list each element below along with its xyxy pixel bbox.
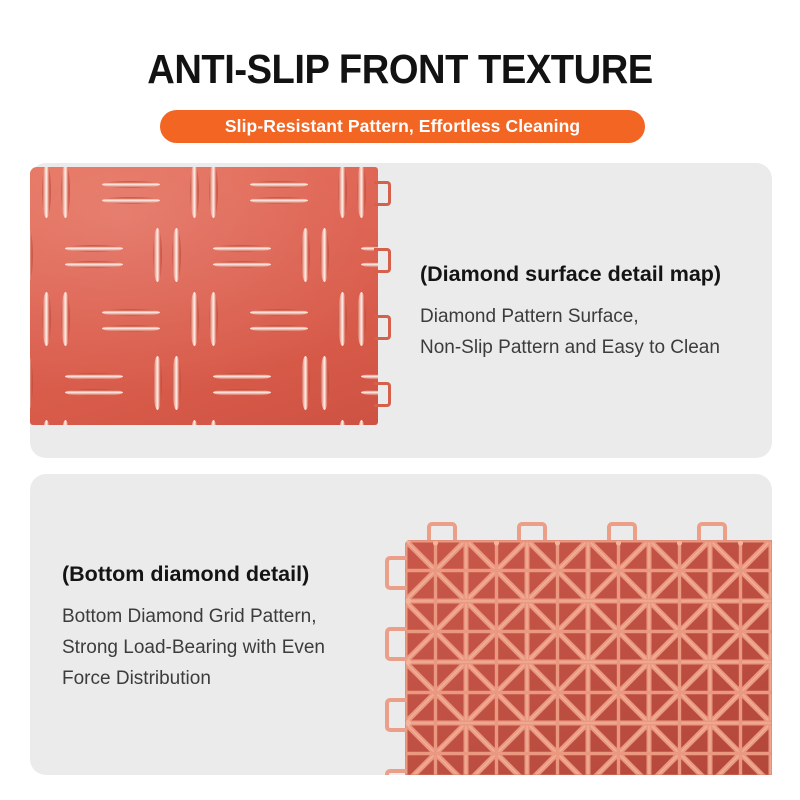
heading-diamond-surface: (Diamond surface detail map) bbox=[420, 262, 721, 287]
page-title: ANTI-SLIP FRONT TEXTURE bbox=[28, 46, 772, 93]
connector-tab bbox=[607, 522, 637, 540]
text-block-diamond-surface: (Diamond surface detail map) Diamond Pat… bbox=[420, 262, 721, 363]
subtitle-badge-label: Slip-Resistant Pattern, Effortless Clean… bbox=[225, 116, 580, 137]
body-line: Strong Load-Bearing with Even bbox=[62, 632, 325, 663]
connector-tab bbox=[385, 627, 407, 661]
connector-tab bbox=[374, 382, 391, 407]
connector-tab bbox=[697, 522, 727, 540]
lattice-grid bbox=[405, 540, 772, 775]
body-line: Diamond Pattern Surface, bbox=[420, 301, 721, 332]
connector-tab bbox=[374, 181, 391, 206]
body-line: Force Distribution bbox=[62, 663, 325, 694]
connector-tab bbox=[385, 556, 407, 590]
body-line: Non-Slip Pattern and Easy to Clean bbox=[420, 332, 721, 363]
connector-tab bbox=[427, 522, 457, 540]
connector-tab bbox=[374, 315, 391, 340]
body-line: Bottom Diamond Grid Pattern, bbox=[62, 601, 325, 632]
text-block-bottom-diamond: (Bottom diamond detail) Bottom Diamond G… bbox=[62, 562, 325, 694]
connector-tab bbox=[517, 522, 547, 540]
subtitle-badge: Slip-Resistant Pattern, Effortless Clean… bbox=[160, 110, 645, 143]
body-diamond-surface: Diamond Pattern Surface, Non-Slip Patter… bbox=[420, 301, 721, 363]
heading-bottom-diamond: (Bottom diamond detail) bbox=[62, 562, 325, 587]
tile-underside-image bbox=[385, 510, 772, 775]
connector-tab bbox=[385, 769, 407, 775]
diamond-plate-tile-image bbox=[30, 167, 378, 425]
connector-tab bbox=[374, 248, 391, 273]
connector-tab bbox=[385, 698, 407, 732]
infographic-root: ANTI-SLIP FRONT TEXTURE Slip-Resistant P… bbox=[0, 0, 800, 800]
body-bottom-diamond: Bottom Diamond Grid Pattern, Strong Load… bbox=[62, 601, 325, 694]
